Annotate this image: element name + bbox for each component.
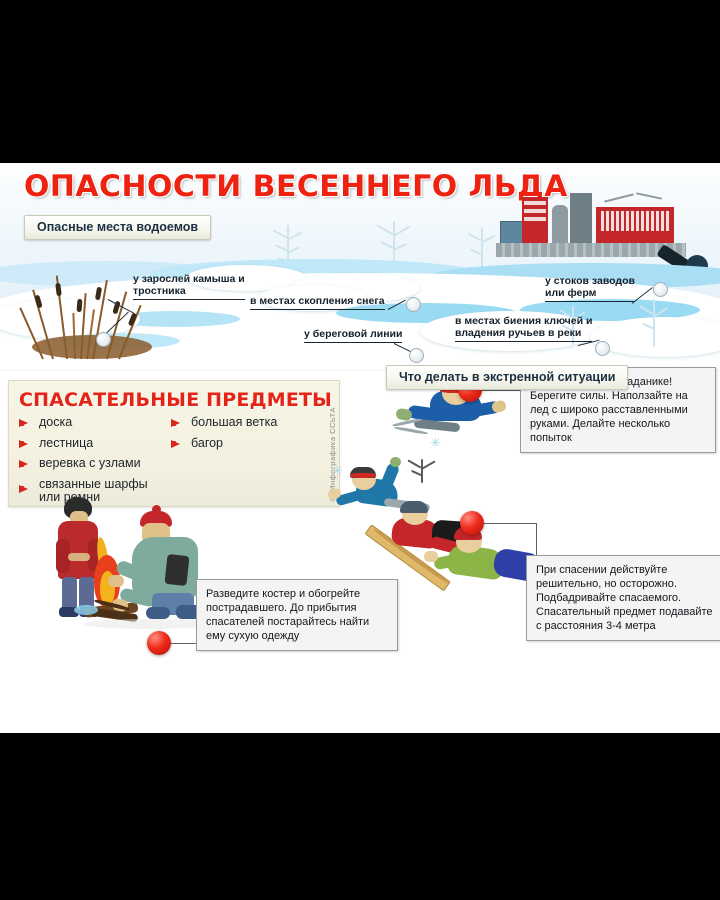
- callout-factory-line2: или ферм: [545, 288, 635, 302]
- leader-line: [482, 390, 522, 391]
- leader-line: [484, 523, 536, 524]
- marker-dot-red: [147, 631, 171, 655]
- callout-reeds-line1: у зарослей камыша и: [133, 273, 245, 285]
- callout-reeds: у зарослей камыша и тростника: [133, 274, 245, 300]
- callout-snow-line1: в местах скопления снега: [250, 296, 385, 310]
- arrow-bullet-icon: [19, 439, 33, 449]
- section-tag-danger-places: Опасные места водоемов: [24, 215, 211, 240]
- advice-box-rescue: При спасении действуйте решительно, но о…: [526, 555, 720, 641]
- callout-reeds-line2: тростника: [133, 286, 245, 300]
- infographic-poster: ОПАСНОСТИ ВЕСЕННЕГО ЛЬДА Опасные места в…: [0, 163, 720, 733]
- callout-springs: в местах биения ключей и владения ручьев…: [455, 316, 592, 342]
- list-item: большая ветка: [171, 416, 277, 430]
- list-item: веревка с узлами: [19, 457, 148, 471]
- leader-line: [536, 523, 537, 555]
- list-item-label: веревка с узлами: [39, 457, 141, 471]
- list-item: доска: [19, 416, 148, 430]
- list-item: лестница: [19, 437, 148, 451]
- callout-shore-line1: у береговой линии: [304, 329, 402, 343]
- marker-dot: [653, 282, 668, 297]
- callout-shore: у береговой линии: [304, 329, 402, 343]
- callout-snow: в местах скопления снега: [250, 296, 385, 310]
- leader-line: [171, 643, 199, 644]
- marker-dot: [595, 341, 610, 356]
- list-item: багор: [171, 437, 277, 451]
- bush-icon: [634, 299, 674, 347]
- emergency-section: Что делать в экстренной ситуации СПАСАТЕ…: [0, 371, 720, 733]
- callout-factory-line1: у стоков заводов: [545, 275, 635, 287]
- list-item-label: багор: [191, 437, 223, 451]
- callout-factory: у стоков заводов или ферм: [545, 276, 635, 302]
- callout-springs-line2: владения ручьев в реки: [455, 328, 592, 342]
- marker-dot-red: [460, 511, 484, 535]
- screenshot-canvas: ОПАСНОСТИ ВЕСЕННЕГО ЛЬДА Опасные места в…: [0, 0, 720, 900]
- marker-dot: [406, 297, 421, 312]
- landscape-scene: ОПАСНОСТИ ВЕСЕННЕГО ЛЬДА Опасные места в…: [0, 163, 720, 371]
- factory-icon: [500, 181, 680, 259]
- callout-springs-line1: в местах биения ключей и: [455, 315, 592, 327]
- list-item-label: большая ветка: [191, 416, 277, 430]
- arrow-bullet-icon: [19, 484, 33, 494]
- marker-dot: [96, 332, 111, 347]
- page-title: ОПАСНОСТИ ВЕСЕННЕГО ЛЬДА: [24, 169, 568, 203]
- advice-box-fire: Разведите костер и обогрейте пострадавше…: [196, 579, 398, 651]
- advice-rescue-text: При спасении действуйте решительно, но о…: [536, 564, 713, 632]
- marker-dot: [409, 348, 424, 363]
- arrow-bullet-icon: [171, 439, 185, 449]
- arrow-bullet-icon: [171, 418, 185, 428]
- rescue-items-panel: СПАСАТЕЛЬНЫЕ ПРЕДМЕТЫ доска лестница вер…: [8, 380, 340, 507]
- rescue-items-column-right: большая ветка багор: [171, 416, 277, 457]
- advice-fire-text: Разведите костер и обогрейте пострадавше…: [206, 588, 369, 642]
- list-item-label: доска: [39, 416, 72, 430]
- rescue-items-title: СПАСАТЕЛЬНЫЕ ПРЕДМЕТЫ: [9, 381, 339, 414]
- arrow-bullet-icon: [19, 459, 33, 469]
- section-tag-emergency: Что делать в экстренной ситуации: [386, 365, 628, 390]
- arrow-bullet-icon: [19, 418, 33, 428]
- bush-icon: [404, 459, 440, 485]
- list-item-label: лестница: [39, 437, 93, 451]
